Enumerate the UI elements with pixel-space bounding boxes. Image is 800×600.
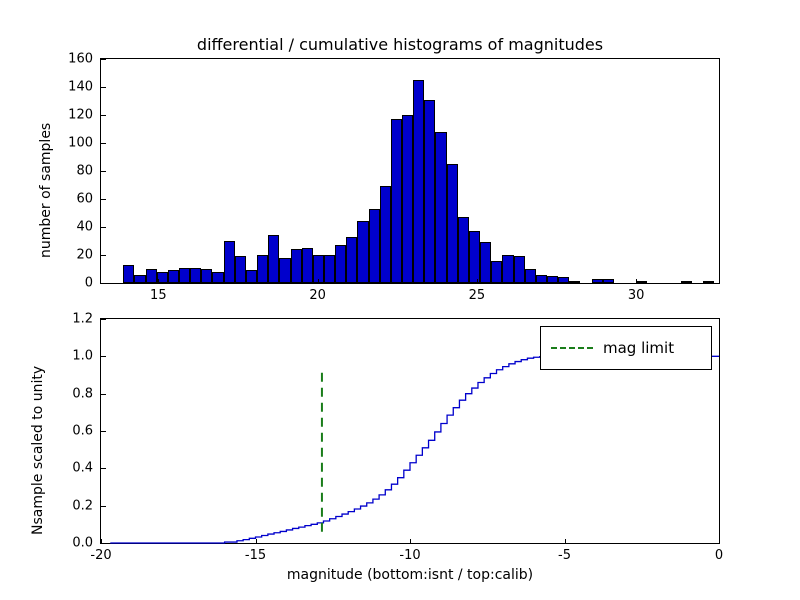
tick-mark	[256, 539, 257, 544]
bottom-x-tick-label: -10	[399, 548, 420, 563]
bottom-y-tick-label: 0.2	[72, 498, 93, 513]
tick-mark	[101, 543, 106, 544]
cumulative-step-line	[110, 356, 719, 543]
tick-mark	[719, 539, 720, 544]
bottom-y-tick-label: 0.8	[72, 386, 93, 401]
bottom-x-tick-label: -5	[558, 548, 571, 563]
legend-label-mag-limit: mag limit	[603, 339, 674, 357]
figure: differential / cumulative histograms of …	[0, 0, 800, 600]
bottom-x-tick-label: -20	[90, 548, 111, 563]
bottom-y-tick-label: 1.2	[72, 312, 93, 327]
tick-mark	[101, 394, 106, 395]
bottom-x-tick-label: -15	[245, 548, 266, 563]
tick-mark	[101, 506, 106, 507]
tick-mark	[101, 431, 106, 432]
tick-mark	[101, 356, 106, 357]
bottom-y-tick-label: 0.6	[72, 424, 93, 439]
tick-mark	[410, 539, 411, 544]
tick-mark	[101, 468, 106, 469]
mag-limit-legend-icon	[551, 347, 593, 349]
tick-mark	[565, 539, 566, 544]
bottom-y-tick-label: 0.4	[72, 461, 93, 476]
bottom-y-tick-label: 1.0	[72, 349, 93, 364]
tick-mark	[101, 319, 106, 320]
legend: mag limit	[540, 326, 712, 370]
cumulative-curve-layer	[0, 0, 800, 600]
bottom-x-tick-label: 0	[715, 548, 723, 563]
bottom-y-tick-label: 0.0	[72, 536, 93, 551]
